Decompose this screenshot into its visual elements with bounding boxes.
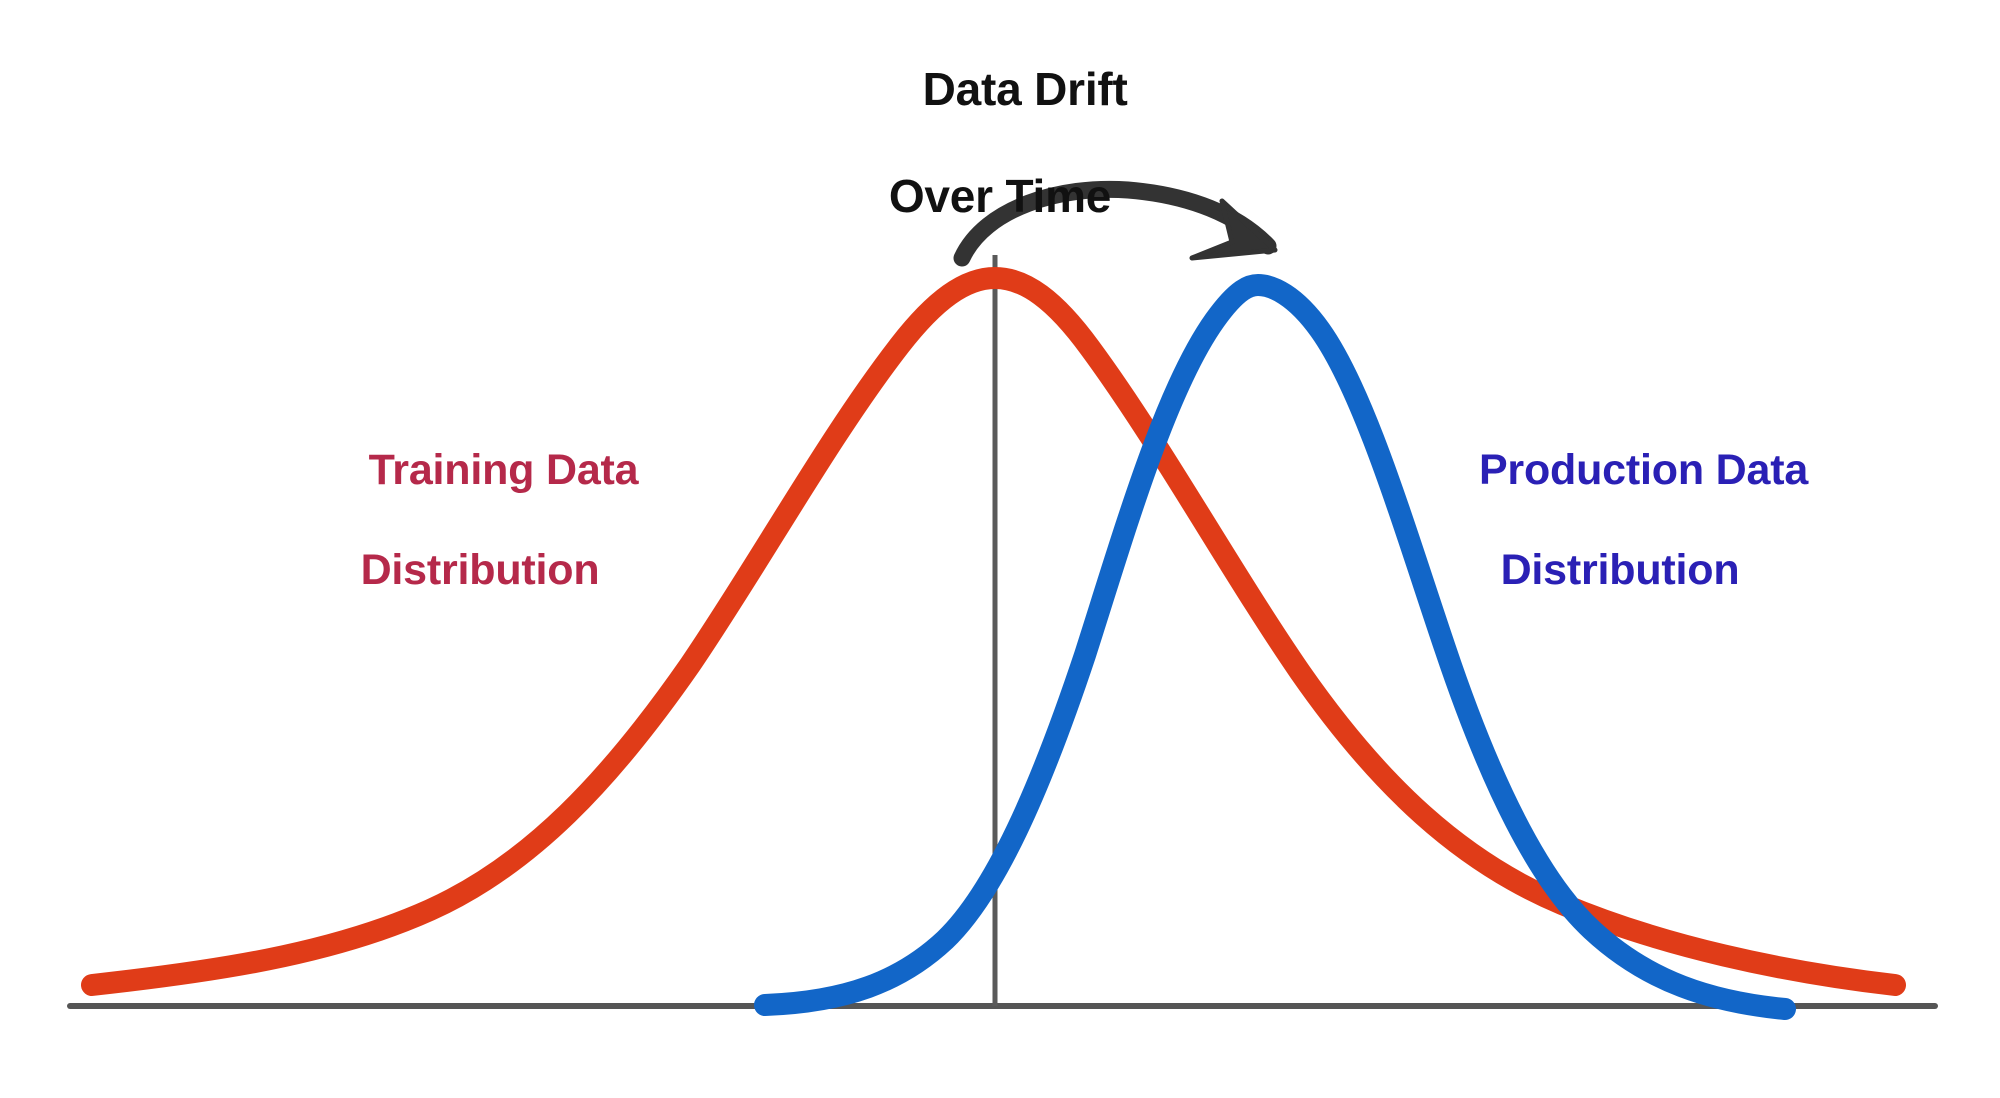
chart-title-line-1: Data Drift [923,63,1128,115]
training-distribution-label: Training Data Distribution [270,396,690,695]
page-title: Data Drift Over Time [760,10,1240,330]
production-label-line-1: Production Data [1479,446,1808,494]
training-label-line-2: Distribution [270,546,690,596]
diagram-canvas: Data Drift Over Time Training Data Distr… [0,0,2000,1098]
chart-title-line-2: Over Time [760,170,1240,223]
production-label-line-2: Distribution [1400,546,1840,596]
production-distribution-label: Production Data Distribution [1400,396,1840,695]
training-label-line-1: Training Data [369,446,639,494]
